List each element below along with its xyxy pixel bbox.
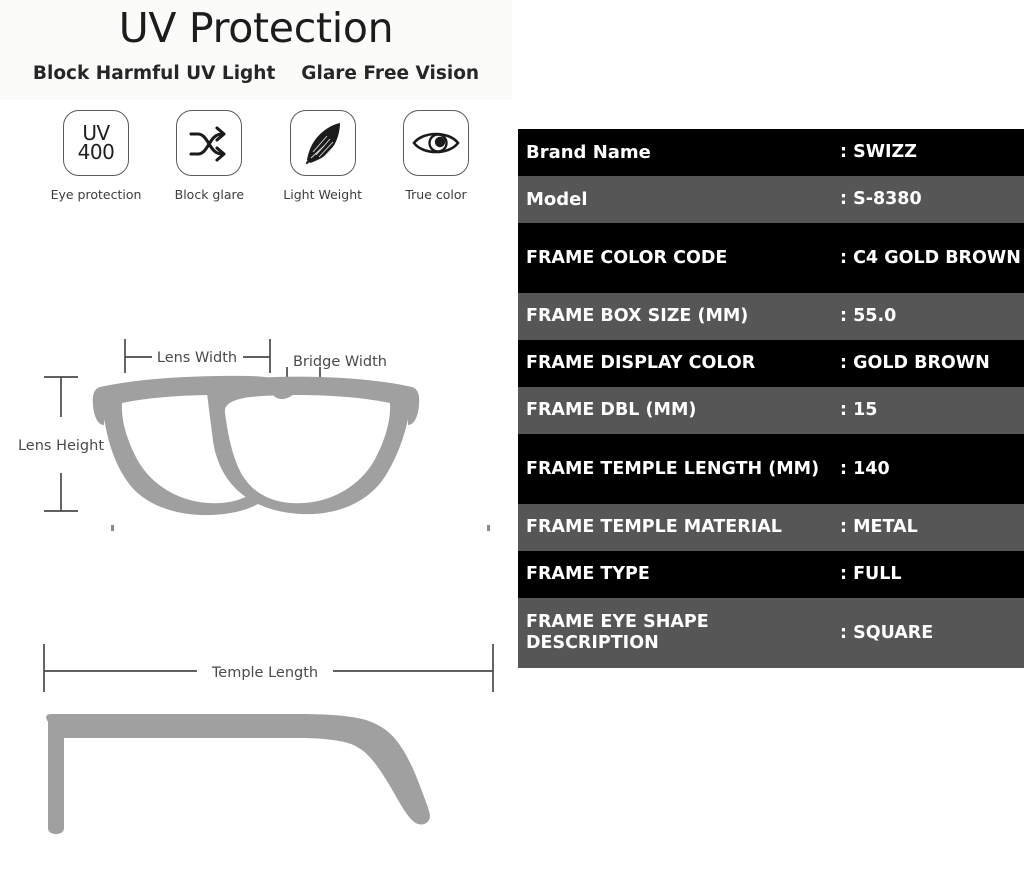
spec-value: : S-8380 [840, 189, 1024, 210]
spec-label: FRAME COLOR CODE [518, 248, 840, 269]
feature-badge-row: UV 400 Eye protection Block glare [46, 110, 486, 202]
table-row: FRAME TYPE: FULL [518, 551, 1024, 598]
spec-label: FRAME BOX SIZE (MM) [518, 306, 840, 327]
page-title: UV Protection [0, 4, 512, 52]
table-row: FRAME DBL (MM): 15 [518, 387, 1024, 434]
spec-value: : 55.0 [840, 306, 1024, 327]
feature-block-glare: Block glare [159, 110, 259, 202]
spec-label: FRAME TYPE [518, 564, 840, 585]
lens-width-label: Lens Width [157, 350, 237, 366]
table-row: FRAME TEMPLE LENGTH (MM): 140 [518, 434, 1024, 504]
left-temple-stub [93, 387, 104, 425]
feature-label-eye-protection: Eye protection [51, 187, 142, 202]
table-row: FRAME COLOR CODE: C4 GOLD BROWN [518, 223, 1024, 293]
table-row: FRAME DISPLAY COLOR: GOLD BROWN [518, 340, 1024, 387]
table-row: FRAME TEMPLE MATERIAL: METAL [518, 504, 1024, 551]
feather-icon [290, 110, 356, 176]
spec-value: : SWIZZ [840, 142, 1024, 163]
spec-value: : SQUARE [840, 623, 1024, 644]
left-tick-mark [111, 525, 114, 531]
table-row: FRAME EYE SHAPE DESCRIPTION: SQUARE [518, 598, 1024, 668]
table-row: Model: S-8380 [518, 176, 1024, 223]
feature-label-true-color: True color [405, 187, 466, 202]
uv400-icon: UV 400 [63, 110, 129, 176]
spec-label: FRAME TEMPLE MATERIAL [518, 517, 840, 538]
feature-label-light-weight: Light Weight [283, 187, 362, 202]
temple-length-label: Temple Length [211, 665, 318, 681]
spec-label: Model [518, 189, 840, 210]
promo-subtitle-2: Glare Free Vision [301, 63, 479, 84]
spec-value: : 140 [840, 459, 1024, 480]
spec-label: FRAME EYE SHAPE DESCRIPTION [518, 612, 840, 654]
temple-arm-shape [46, 714, 430, 834]
spec-label: Brand Name [518, 142, 840, 163]
promo-subtitle-row: Block Harmful UV Light Glare Free Vision [0, 63, 512, 84]
lens-height-label: Lens Height [18, 438, 104, 454]
feature-light-weight: Light Weight [273, 110, 373, 202]
bridge-width-label: Bridge Width [293, 354, 387, 370]
spec-label: FRAME TEMPLE LENGTH (MM) [518, 459, 840, 480]
feather-glyph [300, 119, 346, 167]
eyeglasses-front-measurement-diagram: Lens Width Bridge Width Lens Height [0, 325, 512, 540]
spec-label: FRAME DISPLAY COLOR [518, 353, 840, 374]
table-row: FRAME BOX SIZE (MM): 55.0 [518, 293, 1024, 340]
temple-diagram-svg: Temple Length [0, 630, 512, 845]
spec-label: FRAME DBL (MM) [518, 400, 840, 421]
eyeglasses-temple-measurement-diagram: Temple Length [0, 630, 512, 845]
right-temple-stub [408, 387, 419, 425]
spec-value: : 15 [840, 400, 1024, 421]
shuffle-arrows-icon [176, 110, 242, 176]
promo-subtitle-1: Block Harmful UV Light [33, 63, 275, 84]
spec-value: : FULL [840, 564, 1024, 585]
feature-label-block-glare: Block glare [175, 187, 244, 202]
front-diagram-svg: Lens Width Bridge Width Lens Height [0, 325, 512, 540]
product-illustration-panel: UV Protection Block Harmful UV Light Gla… [0, 0, 512, 886]
product-specification-table: Brand Name: SWIZZModel: S-8380FRAME COLO… [518, 129, 1024, 668]
feature-eye-protection: UV 400 Eye protection [46, 110, 146, 202]
eye-icon [403, 110, 469, 176]
spec-value: : GOLD BROWN [840, 353, 1024, 374]
eye-glyph [411, 126, 461, 160]
shuffle-arrows-glyph [187, 123, 231, 163]
feature-true-color: True color [386, 110, 486, 202]
table-row: Brand Name: SWIZZ [518, 129, 1024, 176]
right-tick-mark [487, 525, 490, 531]
spec-value: : C4 GOLD BROWN [840, 248, 1024, 269]
uv400-icon-line2: 400 [78, 143, 115, 162]
spec-value: : METAL [840, 517, 1024, 538]
